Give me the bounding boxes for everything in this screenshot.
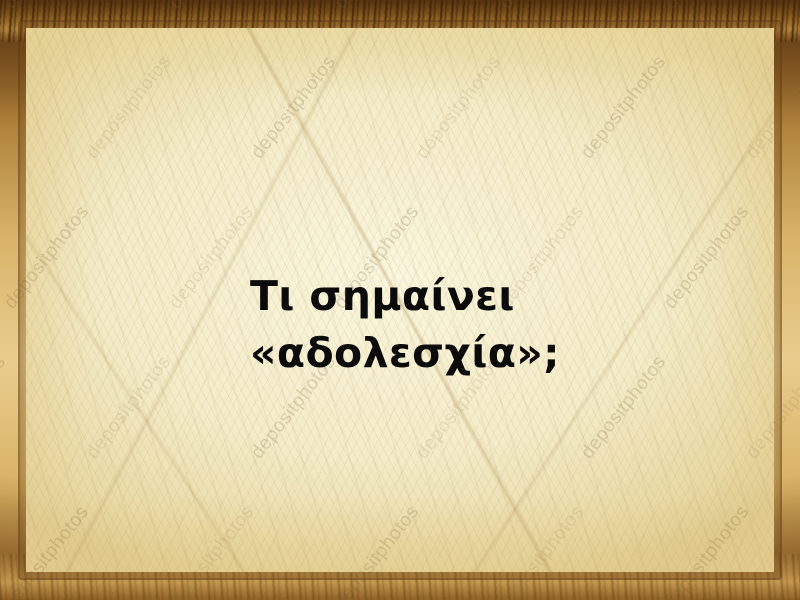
slide-title-text: Τι σημαίνει «αδολεσχία»; bbox=[250, 268, 690, 382]
presentation-slide: depositphotosdepositphotosdepositphotosd… bbox=[0, 0, 800, 600]
slide-title-line-2: «αδολεσχία»; bbox=[250, 325, 690, 382]
slide-title-line-1: Τι σημαίνει bbox=[250, 268, 690, 325]
